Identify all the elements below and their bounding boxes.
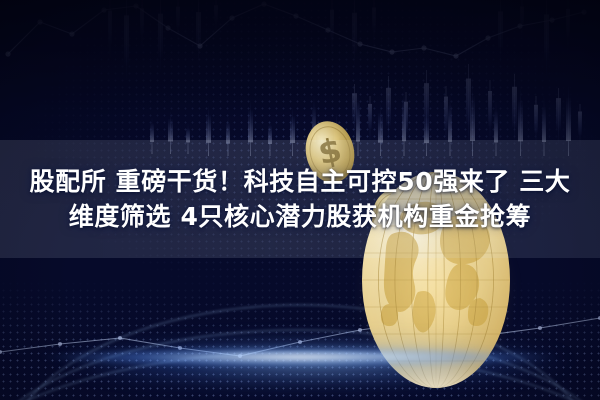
headline-line-2: 维度筛选 4只核心潜力股获机构重金抢筹	[69, 202, 532, 232]
headline-block: 股配所 重磅干货！科技自主可控50强来了 三大 维度筛选 4只核心潜力股获机构重…	[0, 140, 600, 258]
headline-line-1: 股配所 重磅干货！科技自主可控50强来了 三大	[30, 167, 571, 197]
promo-banner: $$	[0, 0, 600, 400]
